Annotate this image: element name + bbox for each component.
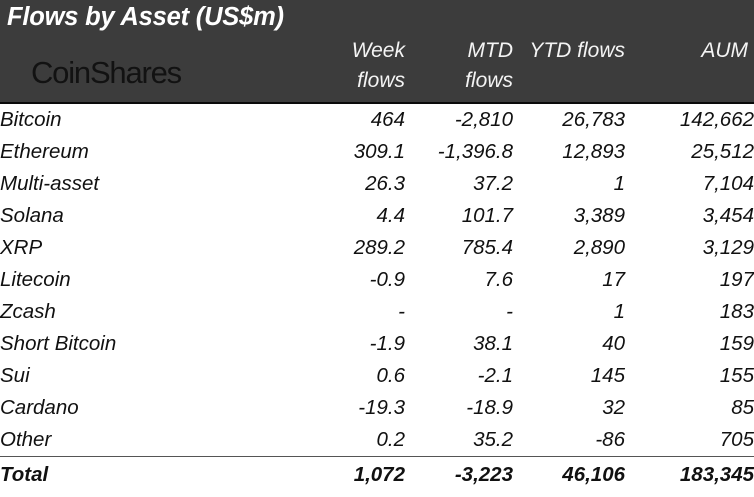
cell-mtd-flows: -2,810	[405, 104, 513, 136]
cell-asset-name: Zcash	[0, 296, 276, 328]
cell-week-flows: 309.1	[276, 136, 405, 168]
cell-ytd-flows: 32	[513, 392, 625, 424]
table-row: Multi-asset26.337.217,104	[0, 168, 754, 200]
cell-mtd-flows: 7.6	[405, 264, 513, 296]
table-row: Bitcoin464-2,81026,783142,662	[0, 104, 754, 136]
cell-aum: 159	[625, 328, 754, 360]
cell-aum: 197	[625, 264, 754, 296]
table-row: Other0.235.2-86705	[0, 424, 754, 457]
cell-aum: 183,345	[625, 457, 754, 494]
table-header: Flows by Asset (US$m) CoinShares Week fl…	[0, 0, 754, 104]
cell-aum: 183	[625, 296, 754, 328]
cell-asset-name: Litecoin	[0, 264, 276, 296]
cell-ytd-flows: 26,783	[513, 104, 625, 136]
table-row: Short Bitcoin-1.938.140159	[0, 328, 754, 360]
cell-ytd-flows: -86	[513, 424, 625, 457]
cell-asset-name: Bitcoin	[0, 104, 276, 136]
page-title: Flows by Asset (US$m)	[7, 3, 284, 32]
table-row: Cardano-19.3-18.93285	[0, 392, 754, 424]
cell-ytd-flows: 2,890	[513, 232, 625, 264]
cell-mtd-flows: -2.1	[405, 360, 513, 392]
table-row: Sui0.6-2.1145155	[0, 360, 754, 392]
cell-ytd-flows: 3,389	[513, 200, 625, 232]
cell-week-flows: 26.3	[276, 168, 405, 200]
cell-mtd-flows: -	[405, 296, 513, 328]
cell-week-flows: 0.2	[276, 424, 405, 457]
cell-ytd-flows: 1	[513, 168, 625, 200]
cell-week-flows: 464	[276, 104, 405, 136]
cell-week-flows: -1.9	[276, 328, 405, 360]
cell-week-flows: -19.3	[276, 392, 405, 424]
cell-asset-name: Short Bitcoin	[0, 328, 276, 360]
table-row: Litecoin-0.97.617197	[0, 264, 754, 296]
cell-week-flows: 289.2	[276, 232, 405, 264]
cell-ytd-flows: 40	[513, 328, 625, 360]
cell-aum: 25,512	[625, 136, 754, 168]
cell-mtd-flows: 35.2	[405, 424, 513, 457]
column-header-aum: AUM	[548, 36, 748, 66]
cell-asset-name: Ethereum	[0, 136, 276, 168]
flows-by-asset-table-card: Flows by Asset (US$m) CoinShares Week fl…	[0, 0, 754, 497]
cell-asset-name: Other	[0, 424, 276, 457]
table-row: Solana4.4101.73,3893,454	[0, 200, 754, 232]
table-row-total: Total1,072-3,22346,106183,345	[0, 457, 754, 494]
column-header-row: Week flows MTD flows YTD flows AUM	[0, 36, 754, 104]
cell-aum: 3,129	[625, 232, 754, 264]
cell-ytd-flows: 46,106	[513, 457, 625, 494]
cell-aum: 7,104	[625, 168, 754, 200]
cell-mtd-flows: 37.2	[405, 168, 513, 200]
cell-week-flows: -0.9	[276, 264, 405, 296]
cell-week-flows: 4.4	[276, 200, 405, 232]
cell-asset-name: Solana	[0, 200, 276, 232]
cell-mtd-flows: 38.1	[405, 328, 513, 360]
cell-ytd-flows: 12,893	[513, 136, 625, 168]
cell-mtd-flows: -3,223	[405, 457, 513, 494]
cell-aum: 705	[625, 424, 754, 457]
cell-ytd-flows: 145	[513, 360, 625, 392]
table-row: Zcash--1183	[0, 296, 754, 328]
flows-table: Bitcoin464-2,81026,783142,662Ethereum309…	[0, 104, 754, 493]
cell-aum: 142,662	[625, 104, 754, 136]
cell-week-flows: 1,072	[276, 457, 405, 494]
cell-asset-name: Sui	[0, 360, 276, 392]
cell-asset-name: Total	[0, 457, 276, 494]
flows-table-body: Bitcoin464-2,81026,783142,662Ethereum309…	[0, 104, 754, 493]
cell-aum: 3,454	[625, 200, 754, 232]
cell-asset-name: Multi-asset	[0, 168, 276, 200]
cell-ytd-flows: 1	[513, 296, 625, 328]
cell-week-flows: -	[276, 296, 405, 328]
cell-aum: 155	[625, 360, 754, 392]
cell-mtd-flows: 785.4	[405, 232, 513, 264]
table-row: XRP289.2785.42,8903,129	[0, 232, 754, 264]
cell-mtd-flows: 101.7	[405, 200, 513, 232]
cell-asset-name: XRP	[0, 232, 276, 264]
cell-mtd-flows: -18.9	[405, 392, 513, 424]
cell-week-flows: 0.6	[276, 360, 405, 392]
cell-ytd-flows: 17	[513, 264, 625, 296]
table-row: Ethereum309.1-1,396.812,89325,512	[0, 136, 754, 168]
cell-mtd-flows: -1,396.8	[405, 136, 513, 168]
cell-asset-name: Cardano	[0, 392, 276, 424]
cell-aum: 85	[625, 392, 754, 424]
